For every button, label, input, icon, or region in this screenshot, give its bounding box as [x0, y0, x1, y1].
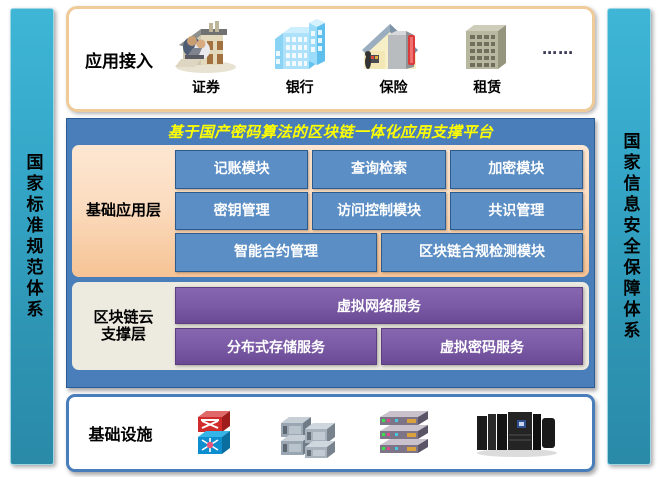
- app-item-caption: 证券: [192, 77, 220, 97]
- center-column: 应用接入: [62, 6, 599, 469]
- cloud-label-line2: 支撑层: [72, 326, 175, 343]
- application-access-items: 证券: [159, 17, 592, 101]
- infrastructure-panel: 基础设施: [66, 394, 595, 472]
- service-virtual-network[interactable]: 虚拟网络服务: [175, 287, 583, 324]
- app-item-bank[interactable]: 银行: [261, 17, 339, 97]
- module-access-control[interactable]: 访问控制模块: [312, 192, 445, 231]
- base-application-module-grid: 记账模块 查询检索 加密模块 密钥管理 访问控制模块 共识管理 智能合约管理 区…: [175, 150, 583, 272]
- app-item-securities[interactable]: 证券: [167, 17, 245, 97]
- module-consensus-management[interactable]: 共识管理: [450, 192, 583, 231]
- app-item-insurance[interactable]: 保险: [354, 17, 432, 97]
- insurance-house-icon: [358, 17, 428, 75]
- base-application-layer-label: 基础应用层: [72, 202, 175, 219]
- module-row: 记账模块 查询检索 加密模块: [175, 150, 583, 189]
- module-smart-contract-management[interactable]: 智能合约管理: [175, 233, 377, 272]
- app-items-ellipsis: ……: [542, 40, 574, 58]
- server-cabinet-icon: [473, 408, 559, 458]
- application-access-panel: 应用接入: [66, 6, 595, 112]
- cloud-module-row: 虚拟网络服务: [175, 287, 583, 324]
- leasing-building-icon: [452, 17, 522, 75]
- platform-title: 基于国产密码算法的区块链一体化应用支撑平台: [69, 121, 592, 144]
- rack-servers-icon: [378, 407, 434, 459]
- application-access-label: 应用接入: [85, 47, 153, 72]
- network-router-switch-icon: [192, 405, 238, 461]
- app-item-caption: 保险: [379, 77, 407, 97]
- infrastructure-icons: [172, 405, 592, 461]
- bank-building-icon: [265, 17, 335, 75]
- module-blockchain-compliance-detection[interactable]: 区块链合规检测模块: [381, 233, 583, 272]
- module-encryption[interactable]: 加密模块: [450, 150, 583, 189]
- app-item-caption: 租赁: [473, 77, 501, 97]
- securities-house-icon: [171, 17, 241, 75]
- cloud-module-grid: 虚拟网络服务 分布式存储服务 虚拟密码服务: [175, 287, 583, 365]
- module-row: 智能合约管理 区块链合规检测模块: [175, 233, 583, 272]
- module-row: 密钥管理 访问控制模块 共识管理: [175, 192, 583, 231]
- module-query-search[interactable]: 查询检索: [312, 150, 445, 189]
- server-stack-icon: [277, 407, 339, 459]
- app-item-leasing[interactable]: 租赁: [448, 17, 526, 97]
- right-vertical-banner: 国家信息安全保障体系: [607, 8, 651, 465]
- platform-frame: 基于国产密码算法的区块链一体化应用支撑平台 基础应用层 记账模块 查询检索 加密…: [66, 118, 595, 388]
- service-virtual-cryptography[interactable]: 虚拟密码服务: [381, 328, 583, 365]
- module-key-management[interactable]: 密钥管理: [175, 192, 308, 231]
- base-application-layer: 基础应用层 记账模块 查询检索 加密模块 密钥管理 访问控制模块 共识管理 智能…: [72, 145, 589, 277]
- blockchain-cloud-layer-label: 区块链云 支撑层: [72, 309, 175, 344]
- cloud-label-line1: 区块链云: [72, 309, 175, 326]
- left-vertical-banner: 国家标准规范体系: [10, 8, 54, 465]
- app-item-caption: 银行: [286, 77, 314, 97]
- module-accounting[interactable]: 记账模块: [175, 150, 308, 189]
- right-banner-label: 国家信息安全保障体系: [621, 132, 638, 342]
- cloud-module-row: 分布式存储服务 虚拟密码服务: [175, 328, 583, 365]
- infrastructure-label: 基础设施: [69, 421, 172, 445]
- left-banner-label: 国家标准规范体系: [24, 153, 41, 321]
- blockchain-cloud-layer: 区块链云 支撑层 虚拟网络服务 分布式存储服务 虚拟密码服务: [72, 282, 589, 370]
- architecture-diagram: 国家标准规范体系 国家信息安全保障体系 应用接入: [0, 0, 661, 477]
- service-distributed-storage[interactable]: 分布式存储服务: [175, 328, 377, 365]
